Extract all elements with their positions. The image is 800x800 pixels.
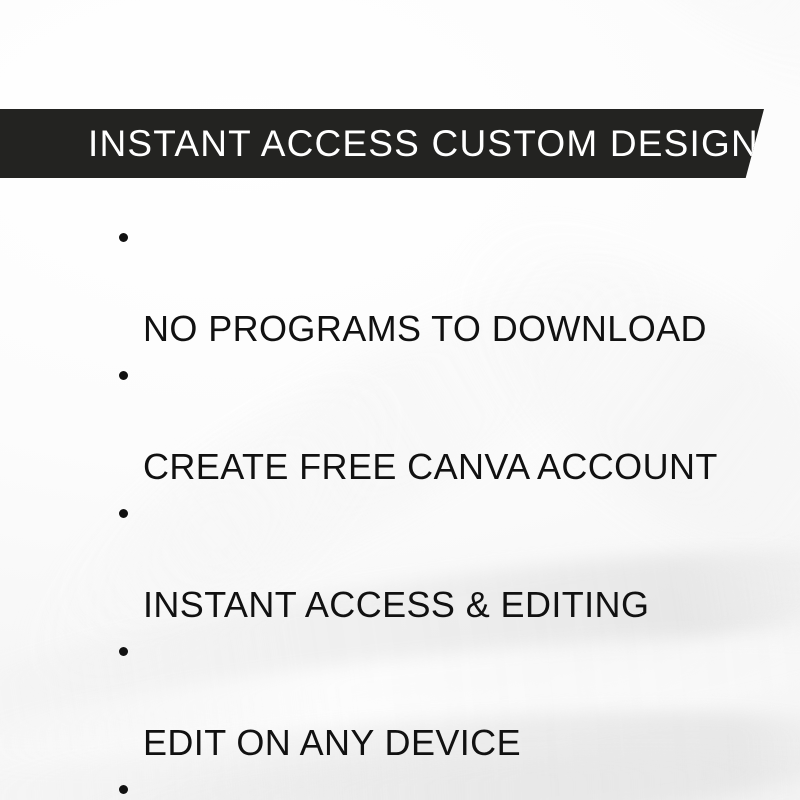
list-item-label: INSTANT ACCESS & EDITING (143, 584, 649, 625)
list-item: NO PROGRAMS TO DOWNLOAD (0, 214, 800, 352)
list-item-label: CREATE FREE CANVA ACCOUNT (143, 446, 718, 487)
bullet-icon (119, 233, 128, 242)
page-title: INSTANT ACCESS CUSTOM DESIGNS (88, 125, 785, 162)
list-item: EDIT ON ANY DEVICE (0, 628, 800, 766)
list-item: EASY TO USE (0, 766, 800, 800)
bullet-icon (119, 509, 128, 518)
list-item-label: NO PROGRAMS TO DOWNLOAD (143, 308, 707, 349)
header-banner: INSTANT ACCESS CUSTOM DESIGNS (0, 109, 764, 178)
bullet-icon (119, 785, 128, 794)
bullet-icon (119, 371, 128, 380)
feature-list: NO PROGRAMS TO DOWNLOAD CREATE FREE CANV… (0, 214, 800, 800)
list-item: INSTANT ACCESS & EDITING (0, 490, 800, 628)
list-item-label: EDIT ON ANY DEVICE (143, 722, 521, 763)
promo-graphic: INSTANT ACCESS CUSTOM DESIGNS NO PROGRAM… (0, 0, 800, 800)
list-item: CREATE FREE CANVA ACCOUNT (0, 352, 800, 490)
bullet-icon (119, 647, 128, 656)
